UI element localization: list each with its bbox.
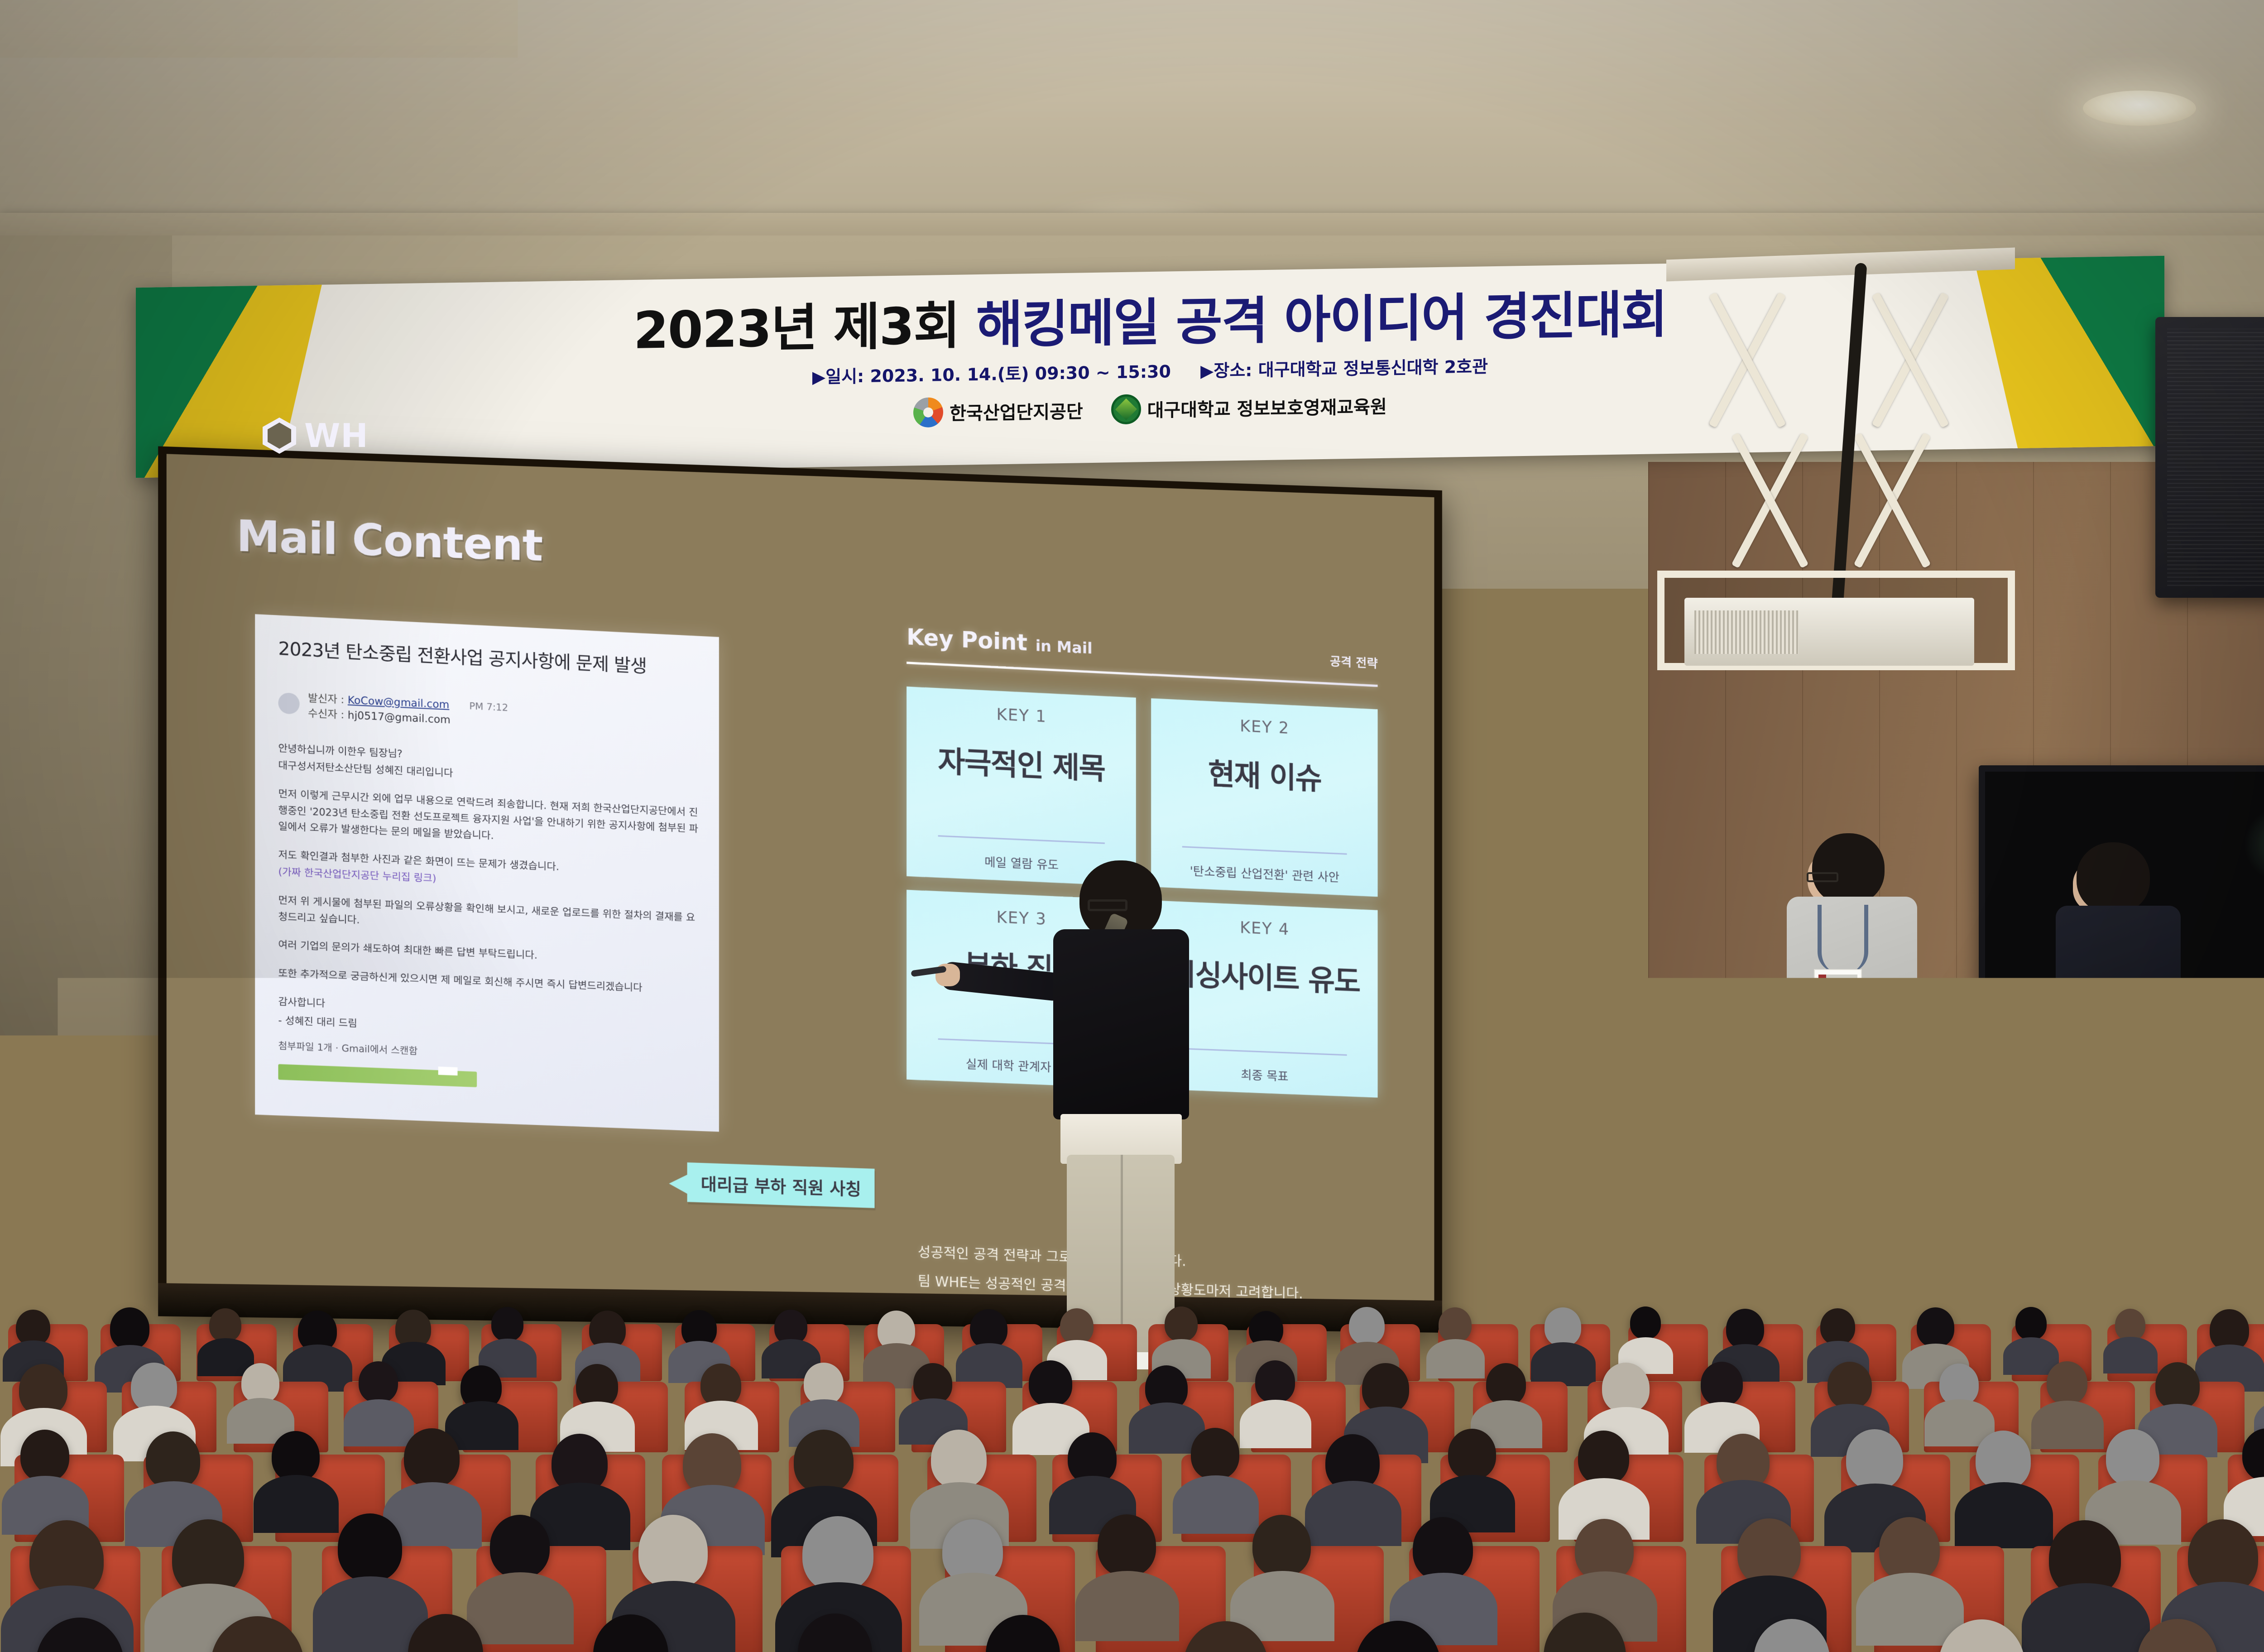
glasses-icon	[1807, 872, 1838, 882]
audience-member-head	[1098, 1514, 1156, 1576]
glasses-icon	[1088, 899, 1127, 911]
callout-impersonation: 대리급 부하 직원 사칭	[687, 1162, 875, 1208]
audience-member-shoulders	[2103, 1337, 2158, 1373]
key-point-subheading: in Mail	[1036, 637, 1093, 658]
sponsor-daegu: 대구대학교 정보보호영재교육원	[1111, 390, 1387, 425]
wall-speaker	[2155, 317, 2264, 598]
team-member-1: 김진영	[1784, 833, 1920, 1300]
key-card-4-number: KEY 4	[1240, 918, 1290, 939]
email-time: PM 7:12	[469, 701, 508, 713]
audience-member-head	[638, 1515, 708, 1588]
email-body: 안녕하십니까 이한우 팀장님? 대구성서저탄소산단팀 성혜진 대리입니다 먼저 …	[278, 740, 703, 1046]
key-card-4-desc: 최종 목표	[1241, 1065, 1288, 1085]
audience-member-head	[931, 1430, 987, 1489]
email-body-line-5: 먼저 위 게시물에 첨부된 파일의 오류상황을 확인해 보시고, 새로운 업로드…	[278, 893, 703, 943]
email-body-line-6: 여러 기업의 문의가 쇄도하여 최대한 빠른 답변 부탁드립니다.	[278, 937, 703, 970]
email-body-line-7: 또한 추가적으로 궁금하신게 있으시면 제 메일로 회신해 주시면 즉시 답변드…	[278, 965, 703, 999]
audience-member-head	[2047, 1361, 2087, 1404]
key-point-section-tag: 공격 전략	[1330, 652, 1378, 672]
banner-date: ▶일시: 2023. 10. 14.(토) 09:30 ~ 15:30	[812, 361, 1171, 387]
slide-title: Mail Content	[236, 511, 542, 571]
audience-member-head	[1602, 1363, 1650, 1413]
audience-member-head	[1726, 1309, 1764, 1349]
audience-member-head	[1448, 1429, 1496, 1479]
audience-member-shoulders	[1856, 1573, 1964, 1646]
kicox-logo-mark-icon	[913, 397, 943, 427]
key-card-1-number: KEY 1	[996, 705, 1046, 726]
key-card-2-number: KEY 2	[1240, 717, 1290, 738]
auditorium-photo: 2023년 제3회 해킹메일 공격 아이디어 경진대회 ▶일시: 2023. 1…	[0, 0, 2264, 1652]
projection-screen: Mail Content 2023년 탄소중립 전환사업 공지사항에 문제 발생…	[158, 446, 1442, 1332]
audience-member-head	[490, 1515, 550, 1578]
audience-member-head	[1413, 1517, 1473, 1581]
audience-member-shoulders	[956, 1343, 1022, 1388]
audience-member-head	[1879, 1517, 1940, 1581]
projector-vent-icon	[1694, 610, 1799, 654]
audience-member-head	[1828, 1362, 1872, 1409]
audience-member-head	[2106, 1429, 2160, 1486]
audience-member-head	[804, 1363, 843, 1405]
audience-member-head	[1029, 1360, 1072, 1406]
key-card-divider	[1182, 846, 1347, 855]
audience-member-head	[359, 1361, 398, 1403]
audience-member-head	[1060, 1308, 1094, 1344]
email-meta: 발신자 : KoCow@gmail.com PM 7:12 수신자 : hj05…	[278, 690, 703, 740]
audience-member-head	[146, 1431, 201, 1489]
audience-member-shoulders	[1305, 1481, 1401, 1546]
email-body-line-2: 먼저 이렇게 근무시간 외에 업무 내용으로 연락드려 죄송합니다. 현재 저희…	[278, 786, 703, 854]
banner-place: ▶장소: 대구대학교 정보통신대학 2호관	[1200, 356, 1488, 381]
audience-member-head	[491, 1307, 524, 1341]
audience-member-shoulders	[1955, 1482, 2053, 1549]
sponsor-kicox: 한국산업단지공단	[913, 395, 1083, 427]
audience-member-head	[2015, 1307, 2047, 1340]
audience-member-shoulders	[1240, 1400, 1311, 1448]
audience-member-head	[272, 1431, 320, 1482]
name-badge: 김진영	[1814, 969, 1862, 1023]
member-2-head	[2077, 842, 2150, 914]
audience-member-head	[1349, 1307, 1385, 1345]
audience-member-head	[338, 1513, 402, 1582]
key-point-heading: Key Point	[907, 624, 1027, 656]
audience-member-head	[1976, 1431, 2031, 1489]
member-1-legs	[1802, 1073, 1900, 1277]
key-card-1-title: 자극적인 제목	[938, 737, 1105, 788]
sponsor-kicox-label: 한국산업단지공단	[950, 397, 1083, 425]
audience-member-head	[241, 1363, 279, 1403]
projector-body	[1684, 598, 1974, 666]
email-to-value: hj0517@gmail.com	[348, 710, 451, 726]
audience-member-shoulders	[2031, 1401, 2104, 1450]
audience-member-head	[1917, 1307, 1954, 1347]
audience-member-shoulders	[1426, 1339, 1485, 1378]
callout-impersonation-label: 대리급 부하 직원 사칭	[701, 1174, 861, 1200]
member-2-legs	[2072, 1091, 2168, 1291]
audience-member-head	[1701, 1362, 1743, 1407]
audience-member-head	[131, 1363, 177, 1412]
audience-seating	[0, 1282, 2264, 1652]
presentation-slide: Mail Content 2023년 탄소중립 전환사업 공지사항에 문제 발생…	[167, 454, 1434, 1300]
email-to-label: 수신자 :	[308, 708, 344, 721]
audience-member-head	[1439, 1307, 1472, 1342]
email-avatar	[278, 692, 299, 715]
key-card-2-desc: '탄소중립 산업전환' 관련 사안	[1190, 861, 1339, 885]
audience-member-head	[20, 1430, 69, 1481]
ceiling-projector-rig	[1653, 254, 2042, 661]
audience-member-head	[2155, 1362, 2200, 1409]
callout-tail-icon	[669, 1174, 688, 1195]
team-member-2	[2051, 842, 2187, 1300]
sponsor-daegu-label: 대구대학교 정보보호영재교육원	[1147, 392, 1387, 422]
audience-member-head	[1255, 1360, 1295, 1403]
audience-member-shoulders	[1531, 1342, 1596, 1386]
audience-member-head	[2115, 1309, 2145, 1341]
team-logo-text: WH	[304, 417, 369, 455]
audience-member-head	[1362, 1363, 1409, 1413]
audience-member-head	[209, 1308, 241, 1342]
email-subject: 2023년 탄소중립 전환사업 공지사항에 문제 발생	[278, 634, 703, 681]
audience-member-head	[110, 1307, 149, 1349]
audience-member-shoulders	[254, 1475, 339, 1532]
badge-header-bar	[1818, 975, 1857, 985]
audience-member-head	[1486, 1363, 1526, 1406]
audience-member-head	[1165, 1306, 1198, 1341]
email-mockup: 2023년 탄소중립 전환사업 공지사항에 문제 발생 발신자 : KoCow@…	[255, 614, 719, 1132]
audience-member-head	[1820, 1308, 1855, 1345]
member-2-blazer	[2056, 906, 2181, 1096]
member-1-head	[1812, 833, 1885, 905]
audience-member-head	[1545, 1307, 1581, 1346]
audience-member-shoulders	[1173, 1475, 1259, 1533]
key-card-1: KEY 1 자극적인 제목 메일 열람 유도	[907, 687, 1136, 886]
hexagon-logo-icon	[263, 418, 296, 454]
audience-member-head	[1252, 1515, 1311, 1577]
audience-member-shoulders	[467, 1572, 574, 1644]
audience-member-shoulders	[445, 1401, 518, 1450]
audience-member-shoulders	[344, 1399, 413, 1446]
lanyard-icon	[1818, 905, 1868, 973]
daegu-univ-logo-mark-icon	[1111, 394, 1141, 424]
email-attachment-chip[interactable]	[278, 1064, 477, 1087]
banner-title-year: 2023년 제3회	[633, 296, 976, 360]
audience-member-head	[794, 1430, 854, 1493]
audience-member-shoulders	[1075, 1571, 1180, 1641]
ceiling-light-2	[2083, 91, 2196, 126]
audience-member-head	[913, 1363, 952, 1404]
key-card-divider	[1182, 1048, 1347, 1056]
audience-member-head	[1191, 1428, 1239, 1479]
audience-member-head	[404, 1428, 459, 1487]
banner-title-main: 해킹메일 공격 아이디어 경진대회	[976, 285, 1667, 355]
email-addresses: 발신자 : KoCow@gmail.com PM 7:12 수신자 : hj05…	[308, 691, 508, 731]
team-logo: WH	[263, 417, 369, 455]
audience-member-head	[1578, 1431, 1629, 1485]
email-from-label: 발신자 :	[308, 692, 344, 706]
audience-member-head	[970, 1309, 1007, 1349]
key-card-divider	[938, 835, 1104, 844]
audience-member-head	[1630, 1306, 1661, 1339]
audience-member-head	[1846, 1429, 1903, 1490]
email-attachment-label: 첨부파일 1개 · Gmail에서 스캔함	[278, 1038, 417, 1057]
presenter-torso	[1053, 929, 1189, 1119]
key-card-2-title: 현재 이슈	[1208, 750, 1321, 798]
audience-member-head	[802, 1516, 873, 1591]
